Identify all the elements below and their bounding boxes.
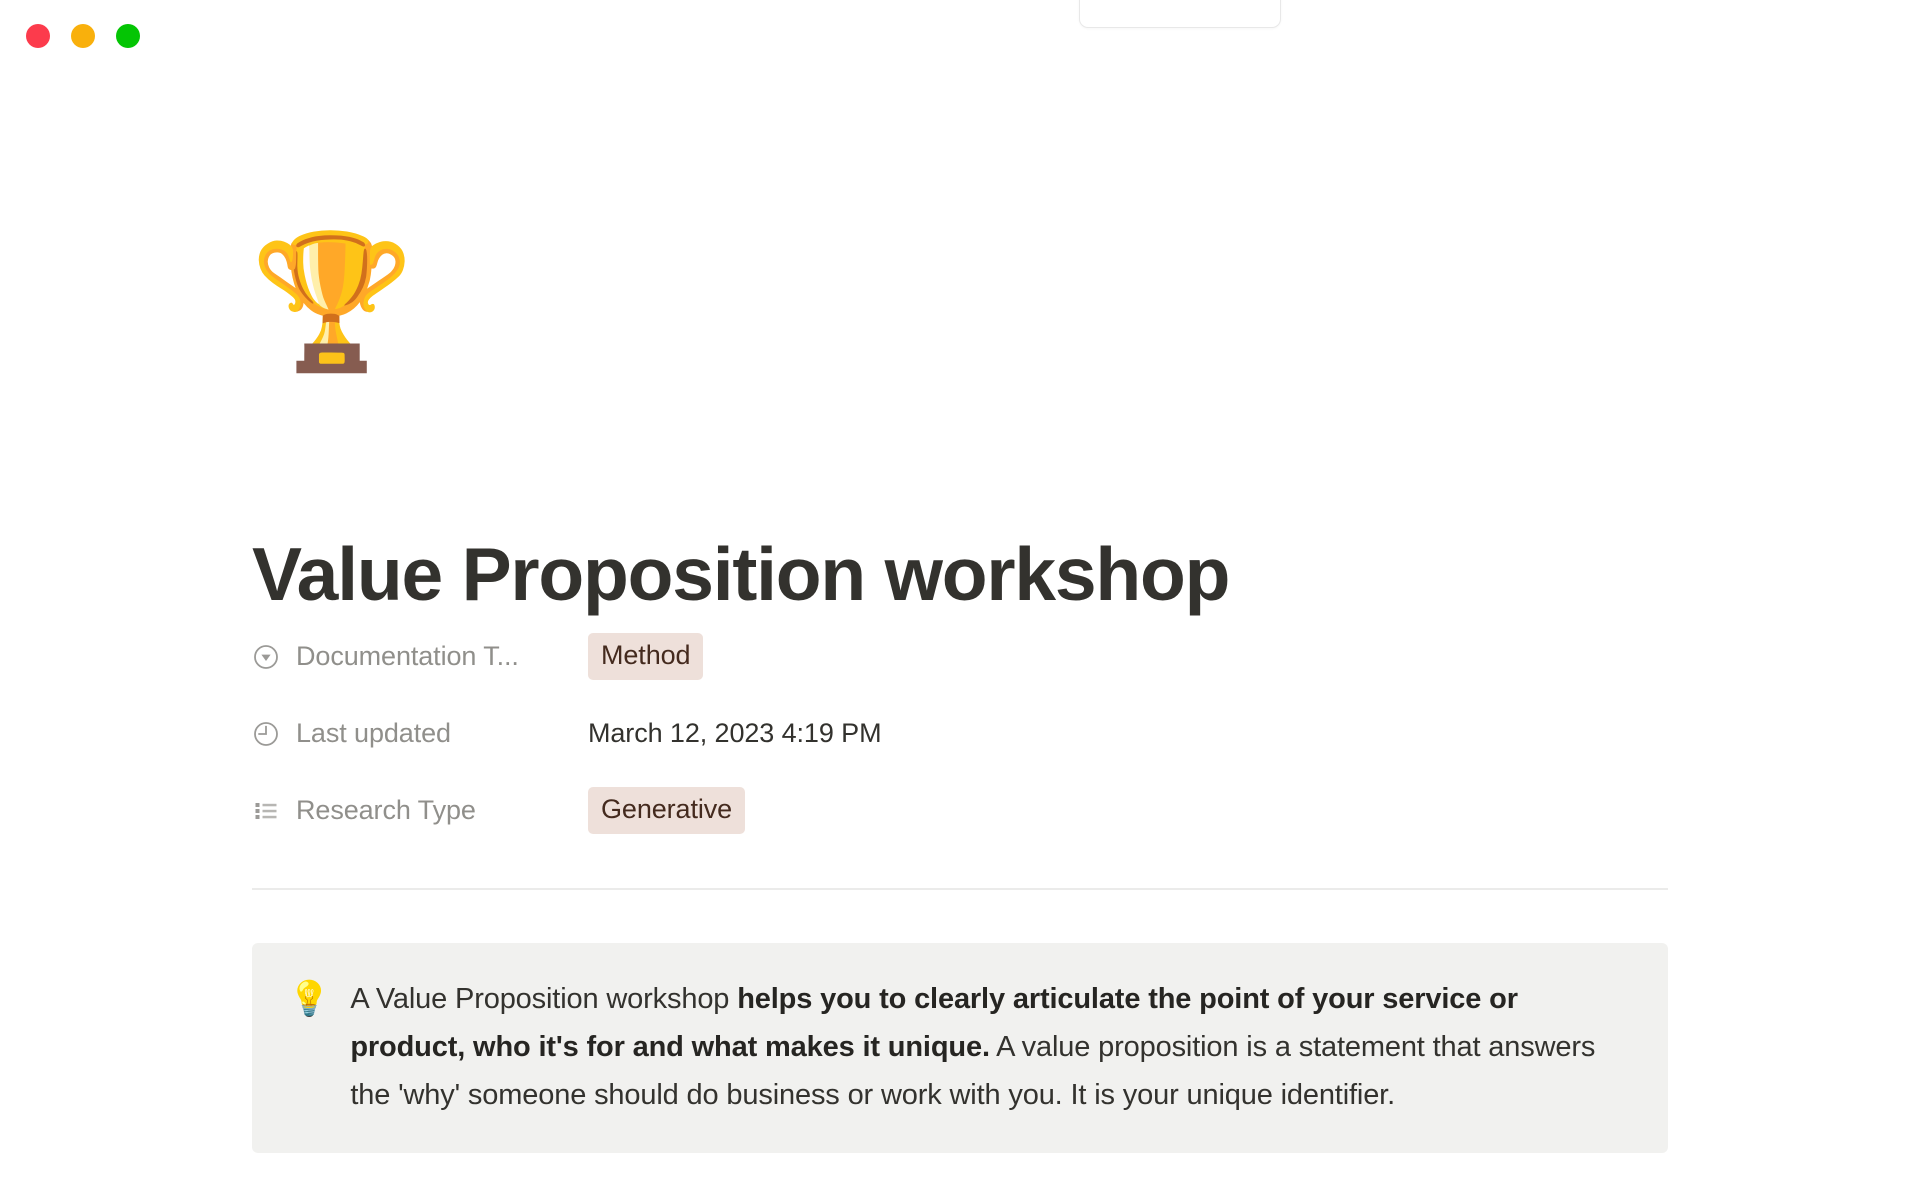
- content-divider: [252, 888, 1668, 890]
- property-label-documentation-type: Documentation T...: [296, 641, 519, 672]
- property-label-research-type: Research Type: [296, 795, 476, 826]
- status-badge-method[interactable]: Method: [588, 633, 703, 680]
- property-row-last-updated: Last updated March 12, 2023 4:19 PM: [252, 707, 1672, 760]
- trophy-emoji[interactable]: 🏆: [250, 236, 414, 368]
- select-chevron-circle-icon: [252, 643, 280, 671]
- light-bulb-emoji: 💡: [288, 975, 330, 1023]
- property-row-research-type: Research Type Generative: [252, 784, 1672, 837]
- property-value-documentation-type[interactable]: Method: [588, 633, 703, 680]
- document-page: 🏆 Value Proposition workshop Documentati…: [0, 0, 1920, 1200]
- multi-select-list-icon: [252, 797, 280, 825]
- page-title[interactable]: Value Proposition workshop: [252, 532, 1229, 616]
- clock-icon: [252, 720, 280, 748]
- callout-block[interactable]: 💡 A Value Proposition workshop helps you…: [252, 943, 1668, 1153]
- callout-text[interactable]: A Value Proposition workshop helps you t…: [350, 975, 1632, 1119]
- status-badge-generative[interactable]: Generative: [588, 787, 745, 834]
- last-updated-timestamp: March 12, 2023 4:19 PM: [588, 718, 881, 748]
- property-value-last-updated[interactable]: March 12, 2023 4:19 PM: [588, 718, 881, 749]
- property-value-research-type[interactable]: Generative: [588, 787, 745, 834]
- property-name-documentation-type[interactable]: Documentation T...: [252, 641, 588, 672]
- property-name-research-type[interactable]: Research Type: [252, 795, 588, 826]
- property-name-last-updated[interactable]: Last updated: [252, 718, 588, 749]
- page-properties: Documentation T... Method Last updated M…: [252, 630, 1672, 861]
- callout-text-lead: A Value Proposition workshop: [350, 983, 737, 1015]
- property-row-documentation-type: Documentation T... Method: [252, 630, 1672, 683]
- property-label-last-updated: Last updated: [296, 718, 451, 749]
